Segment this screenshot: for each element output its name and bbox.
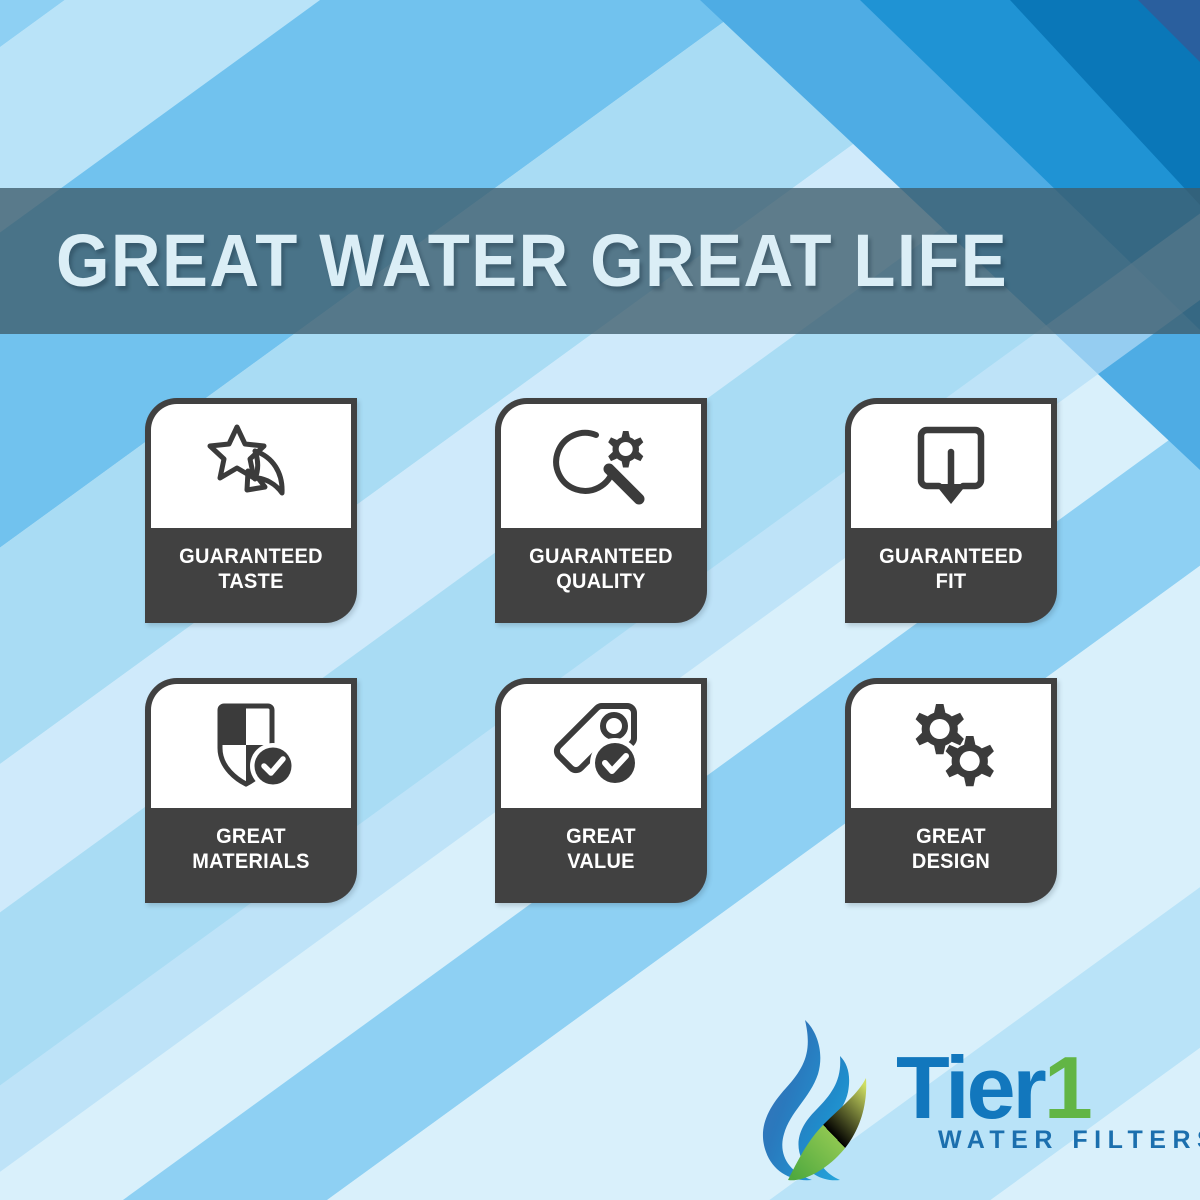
shooting-star-icon bbox=[203, 421, 299, 511]
card-icon-panel bbox=[151, 684, 351, 808]
card-label-line1: GUARANTEED bbox=[179, 545, 323, 570]
price-tag-check-icon bbox=[551, 701, 651, 791]
card-label-line2: TASTE bbox=[218, 570, 283, 595]
card-label: GUARANTEED FIT bbox=[850, 528, 1051, 623]
feature-card-guaranteed-taste[interactable]: GUARANTEED TASTE bbox=[145, 398, 357, 623]
feature-card-guaranteed-fit[interactable]: GUARANTEED FIT bbox=[845, 398, 1057, 623]
card-icon-panel bbox=[851, 404, 1051, 528]
feature-card-grid: GUARANTEED TASTE GUA bbox=[145, 398, 1075, 903]
card-label-line2: MATERIALS bbox=[192, 850, 309, 875]
box-down-arrow-icon bbox=[909, 422, 993, 510]
card-label: GUARANTEED TASTE bbox=[150, 528, 351, 623]
headline-banner: GREAT WATER GREAT LIFE bbox=[0, 188, 1200, 334]
card-label-line2: VALUE bbox=[567, 850, 635, 875]
logo-word-tier: Tier bbox=[896, 1038, 1044, 1137]
magnifier-gear-icon bbox=[551, 423, 651, 509]
card-label-line2: QUALITY bbox=[556, 570, 646, 595]
card-label: GREAT DESIGN bbox=[850, 808, 1051, 903]
logo-word: Tier1 bbox=[896, 1038, 1090, 1137]
card-label-line1: GREAT bbox=[566, 825, 636, 850]
card-icon-panel bbox=[851, 684, 1051, 808]
logo-tagline: WATER FILTERS bbox=[938, 1126, 1200, 1154]
feature-card-great-value[interactable]: GREAT VALUE bbox=[495, 678, 707, 903]
feature-card-great-design[interactable]: GREAT DESIGN bbox=[845, 678, 1057, 903]
card-label-line2: DESIGN bbox=[912, 850, 990, 875]
two-gears-icon bbox=[903, 700, 999, 792]
card-icon-panel bbox=[501, 684, 701, 808]
card-label: GUARANTEED QUALITY bbox=[500, 528, 701, 623]
card-label-line1: GREAT bbox=[216, 825, 286, 850]
shield-check-icon bbox=[206, 700, 296, 792]
promo-graphic: GREAT WATER GREAT LIFE GUARANTEED TASTE bbox=[0, 0, 1200, 1200]
card-label-line1: GUARANTEED bbox=[529, 545, 673, 570]
water-drop-leaf-icon bbox=[742, 1012, 892, 1187]
card-icon-panel bbox=[501, 404, 701, 528]
card-label-line1: GUARANTEED bbox=[879, 545, 1023, 570]
logo-wordmark: Tier1 TM WATER FILTERS bbox=[896, 1012, 1200, 1155]
card-label-line1: GREAT bbox=[916, 825, 986, 850]
feature-card-great-materials[interactable]: GREAT MATERIALS bbox=[145, 678, 357, 903]
card-label: GREAT VALUE bbox=[500, 808, 701, 903]
card-label-line2: FIT bbox=[936, 570, 967, 595]
feature-card-guaranteed-quality[interactable]: GUARANTEED QUALITY bbox=[495, 398, 707, 623]
card-icon-panel bbox=[151, 404, 351, 528]
card-label: GREAT MATERIALS bbox=[150, 808, 351, 903]
logo-word-one: 1 bbox=[1044, 1038, 1090, 1137]
tier1-logo[interactable]: Tier1 TM WATER FILTERS bbox=[742, 1012, 1172, 1187]
page-title: GREAT WATER GREAT LIFE bbox=[56, 224, 1008, 298]
